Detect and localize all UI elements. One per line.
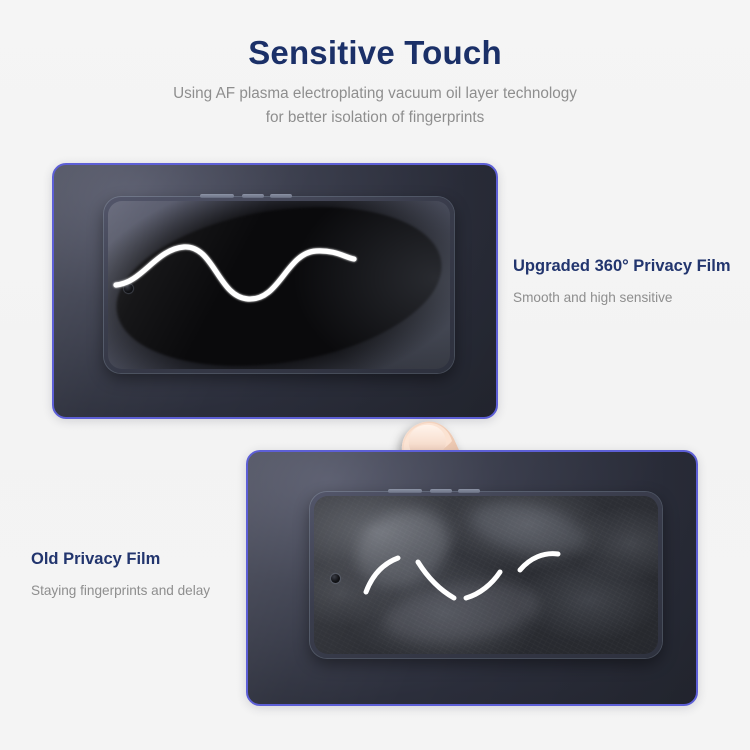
header: Sensitive Touch Using AF plasma electrop…: [0, 34, 750, 129]
page-subtitle: Using AF plasma electroplating vacuum oi…: [0, 82, 750, 129]
phone-side-button-icon: [200, 194, 234, 198]
touch-stroke-broken: [314, 496, 658, 654]
phone-screen-upgraded: [108, 201, 450, 369]
punch-hole-camera-icon: [124, 284, 133, 293]
callout-old-film: Old Privacy Film Staying fingerprints an…: [31, 549, 210, 600]
callout-upgraded-title: Upgraded 360° Privacy Film: [513, 256, 731, 277]
panel-upgraded-film: Upgraded 360° Privacy Film Smooth and hi…: [52, 163, 498, 419]
screen-grain-texture: [314, 496, 658, 654]
callout-upgraded-film: Upgraded 360° Privacy Film Smooth and hi…: [513, 256, 731, 307]
panel-old-film: [246, 450, 698, 706]
punch-hole-camera-icon: [331, 574, 340, 583]
phone-device-old: [310, 492, 662, 658]
fingerprint-smudge: [380, 574, 545, 652]
page-subtitle-line-1: Using AF plasma electroplating vacuum oi…: [173, 85, 577, 102]
fingerprint-smudge: [465, 496, 589, 564]
phone-device-upgraded: [104, 197, 454, 373]
callout-upgraded-subtitle: Smooth and high sensitive: [513, 288, 731, 307]
callout-old-title: Old Privacy Film: [31, 549, 210, 570]
screen-gloss-highlight: [314, 496, 658, 654]
fingerprint-smudge: [345, 496, 462, 599]
panel-old-inner: [248, 452, 696, 704]
phone-side-button-icon: [458, 489, 480, 493]
phone-screen-old: [314, 496, 658, 654]
panel-upgraded-inner: [54, 165, 496, 417]
phone-side-button-icon: [430, 489, 452, 493]
product-feature-image: Sensitive Touch Using AF plasma electrop…: [0, 0, 750, 750]
phone-side-button-icon: [388, 489, 422, 493]
phone-side-button-icon: [270, 194, 292, 198]
phone-side-button-icon: [242, 194, 264, 198]
page-title: Sensitive Touch: [0, 34, 750, 73]
callout-old-subtitle: Staying fingerprints and delay: [31, 581, 210, 600]
page-subtitle-line-2: for better isolation of fingerprints: [0, 106, 750, 130]
